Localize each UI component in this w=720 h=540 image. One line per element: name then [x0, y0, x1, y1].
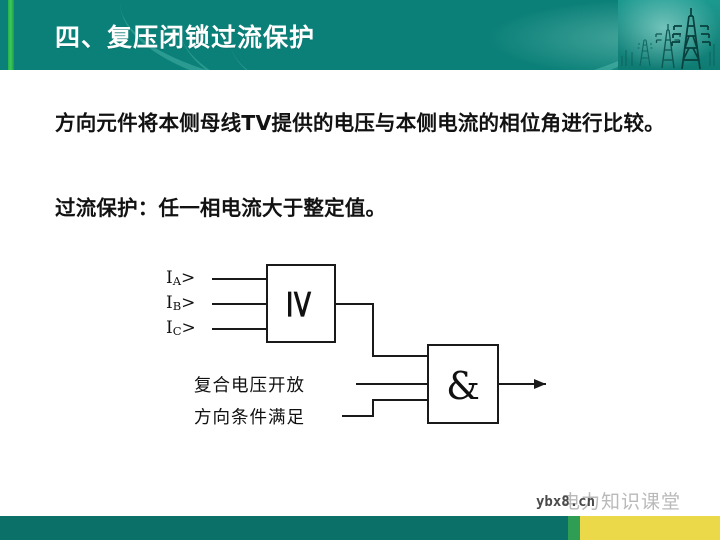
- label-voltage-release: 复合电压开放: [194, 372, 305, 397]
- and-gate-glyph: &: [446, 364, 480, 408]
- label-current-a-subscript: A: [173, 274, 181, 288]
- paragraph-direction-element: 方向元件将本侧母线TV提供的电压与本侧电流的相位角进行比较。: [55, 108, 665, 138]
- site-watermark: ybx8.cn: [536, 494, 595, 510]
- slide-canvas: 四、复压闭锁过流保护 方向元件将本侧母线TV提供的电压与本侧电流的相位角进行比较…: [0, 0, 720, 540]
- header-green-stripe: [8, 0, 14, 70]
- label-current-c: IC>: [166, 318, 196, 338]
- label-current-b-symbol: I: [166, 293, 173, 313]
- header-banner: 四、复压闭锁过流保护: [0, 0, 720, 70]
- label-current-a-symbol: I: [166, 268, 173, 288]
- label-current-b-compare: >: [181, 293, 195, 313]
- footer-bar-accent: [568, 516, 580, 540]
- label-current-b-subscript: B: [173, 299, 181, 313]
- label-current-c-compare: >: [182, 318, 196, 338]
- label-current-c-subscript: C: [173, 324, 182, 338]
- header-left-edge: [0, 0, 8, 70]
- logic-diagram: ≥ & IA> IB> IC> 复合电压开放 方向条件满足: [160, 248, 560, 443]
- footer-bar-yellow: [580, 516, 720, 540]
- label-current-b: IB>: [166, 293, 195, 313]
- label-current-a-compare: >: [181, 268, 195, 288]
- label-current-a: IA>: [166, 268, 195, 288]
- paragraph-overcurrent-protection: 过流保护：任一相电流大于整定值。: [55, 193, 665, 223]
- tower-silhouettes-icon: [618, 0, 720, 70]
- page-title: 四、复压闭锁过流保护: [55, 18, 315, 54]
- or-to-and-connector: [335, 304, 428, 356]
- transmission-tower-photo: [618, 0, 720, 70]
- label-direction-condition: 方向条件满足: [194, 404, 305, 429]
- or-gate-glyph: ≥: [278, 287, 324, 321]
- label-current-c-symbol: I: [166, 318, 173, 338]
- input-line-direction-condition: [342, 400, 428, 416]
- greater-equal-symbol: ≥: [278, 287, 324, 321]
- and-output-arrowhead: [534, 379, 546, 389]
- footer-bar-teal: [0, 516, 568, 540]
